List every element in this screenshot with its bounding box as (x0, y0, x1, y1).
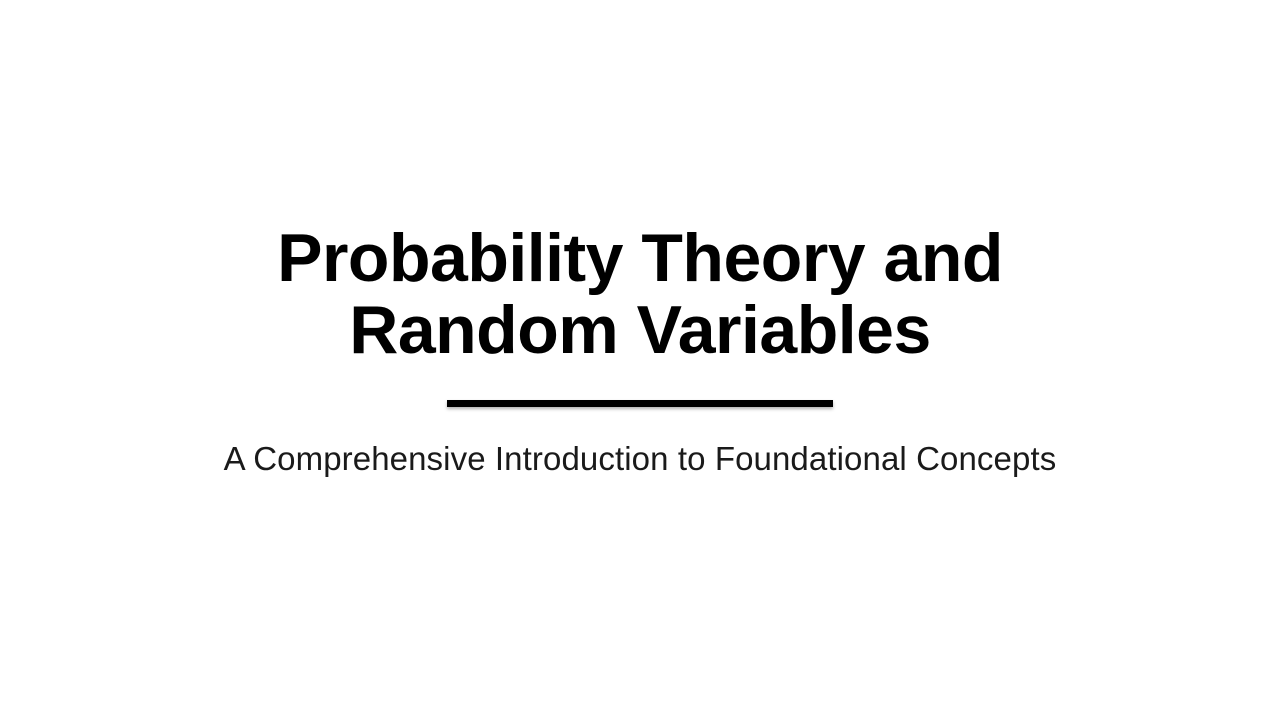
title-block: Probability Theory and Random Variables … (0, 222, 1280, 479)
title-slide: Probability Theory and Random Variables … (0, 0, 1280, 720)
page-subtitle: A Comprehensive Introduction to Foundati… (224, 438, 1057, 479)
title-divider-rule (447, 400, 833, 407)
divider-container (0, 400, 1280, 407)
page-title: Probability Theory and Random Variables (189, 222, 1091, 366)
